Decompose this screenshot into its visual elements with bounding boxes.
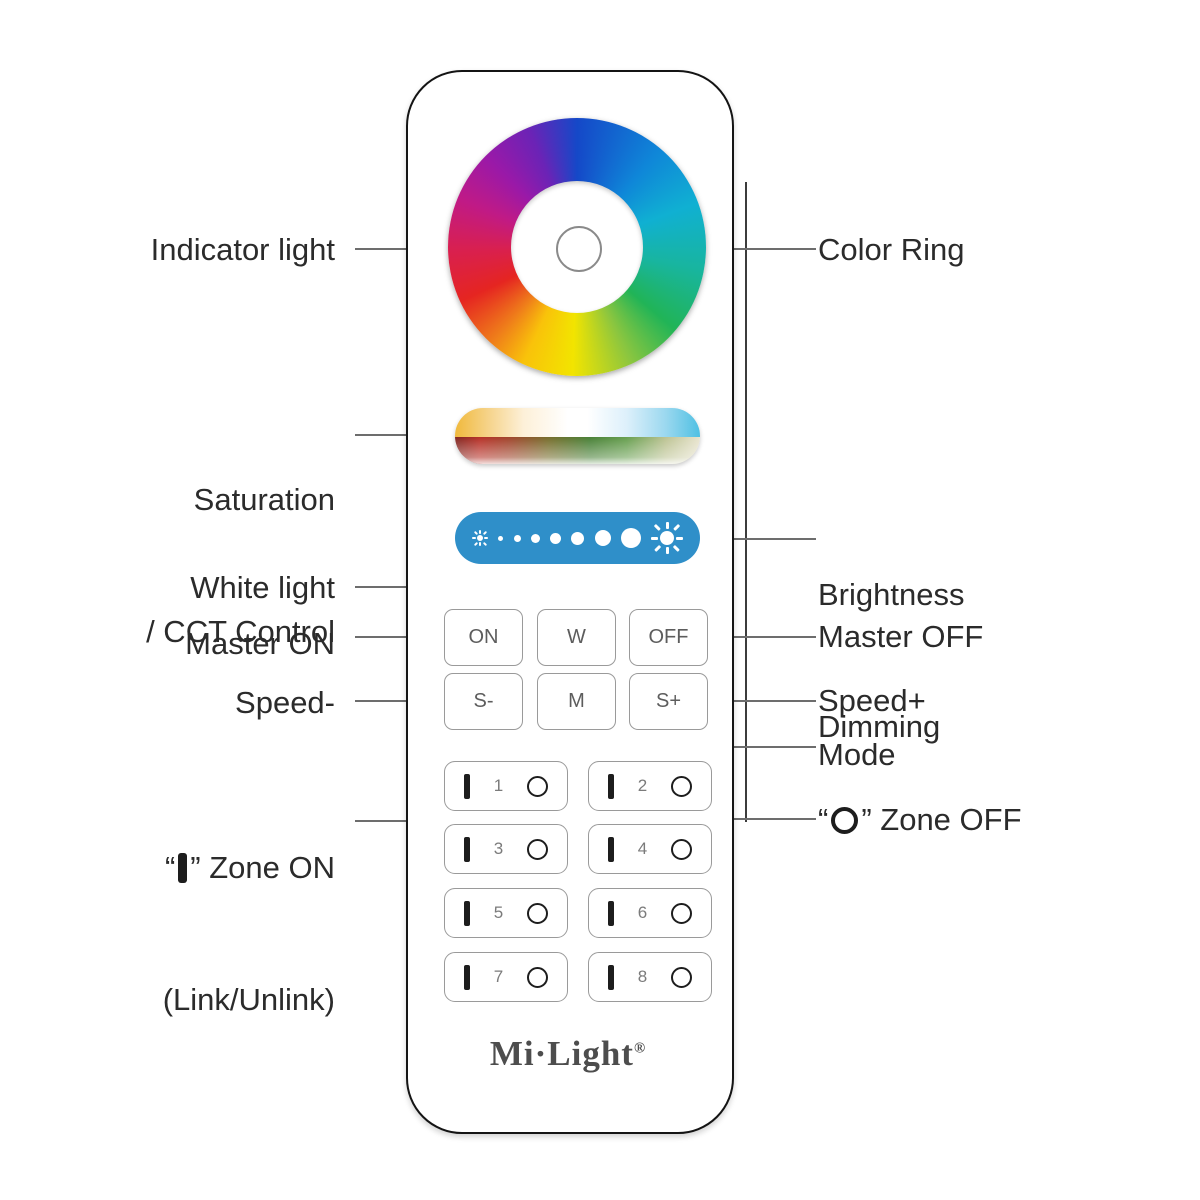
zone-on-bar-icon[interactable] (464, 901, 470, 926)
brightness-dot (514, 535, 521, 542)
callout-zone-off-label: “” Zone OFF (818, 798, 1158, 842)
callout-zone-on-line2: (Link/Unlink) (60, 978, 335, 1022)
zone-number: 6 (638, 903, 647, 923)
callout-master-on-label: Master ON (100, 622, 335, 666)
zone-on-bar-icon[interactable] (608, 901, 614, 926)
m-button[interactable]: M (537, 673, 616, 730)
zone-1-button[interactable]: 1 (444, 761, 568, 811)
zone-on-bar-icon (178, 853, 187, 883)
zone-on-bar-icon[interactable] (464, 774, 470, 799)
callout-white-light-label: White light (100, 566, 335, 610)
indicator-light (556, 226, 602, 272)
zone-on-bar-icon[interactable] (464, 965, 470, 990)
zone-number: 1 (494, 776, 503, 796)
callout-mode-label: Mode (818, 733, 1158, 777)
zone-off-circle-icon[interactable] (671, 967, 692, 988)
zone-number: 8 (638, 967, 647, 987)
callout-saturation-line1: Saturation (40, 478, 335, 522)
zone-on-bar-icon[interactable] (608, 774, 614, 799)
zone-on-bar-icon[interactable] (608, 837, 614, 862)
zone-5-button[interactable]: 5 (444, 888, 568, 938)
zone-off-circle-icon[interactable] (671, 903, 692, 924)
brand-name: Mi·Light (490, 1034, 634, 1073)
callout-brightness-label: Brightness Dimming (818, 485, 1158, 837)
zone-number: 3 (494, 839, 503, 859)
registered-mark: ® (634, 1040, 646, 1056)
off-button[interactable]: OFF (629, 609, 708, 666)
right-leader-rail (745, 182, 747, 822)
zone-on-bar-icon[interactable] (608, 965, 614, 990)
zone-off-circle-icon[interactable] (527, 967, 548, 988)
w-button[interactable]: W (537, 609, 616, 666)
saturation-cct-top-gradient (455, 408, 700, 437)
callout-speed-plus-label: Speed+ (818, 679, 1158, 723)
brightness-dimming-bar[interactable] (455, 512, 700, 564)
brightness-dot (595, 530, 611, 546)
saturation-cct-control[interactable] (455, 408, 700, 464)
color-ring[interactable] (448, 118, 706, 376)
callout-indicator-light-label: Indicator light (60, 228, 335, 272)
callout-zone-on-line1: “” Zone ON (60, 846, 335, 890)
s-minus-button[interactable]: S- (444, 673, 523, 730)
callout-master-off-label: Master OFF (818, 615, 1158, 659)
callout-speed-minus-label: Speed- (100, 681, 335, 725)
brightness-dot (571, 532, 584, 545)
brightness-dot (550, 533, 561, 544)
zone-off-circle-icon[interactable] (671, 776, 692, 797)
zone-3-button[interactable]: 3 (444, 824, 568, 874)
zone-off-circle-icon[interactable] (671, 839, 692, 860)
quote-open: “ (165, 850, 175, 885)
quote-close: ” (190, 850, 200, 885)
zone-off-circle-icon[interactable] (527, 903, 548, 924)
callout-zone-on-label: “” Zone ON (Link/Unlink) (60, 758, 335, 1110)
zone-off-circle-icon[interactable] (527, 839, 548, 860)
zone-off-circle-icon (831, 807, 858, 834)
zone-on-bar-icon[interactable] (464, 837, 470, 862)
zone-off-circle-icon[interactable] (527, 776, 548, 797)
callout-zone-off-suffix: Zone OFF (872, 802, 1022, 837)
zone-number: 7 (494, 967, 503, 987)
quote-close: ” (861, 802, 871, 837)
sun-small-icon (472, 530, 488, 546)
zone-number: 2 (638, 776, 647, 796)
zone-4-button[interactable]: 4 (588, 824, 712, 874)
callout-zone-on-suffix: Zone ON (201, 850, 335, 885)
saturation-cct-bottom-gradient (455, 437, 700, 464)
callout-brightness-line1: Brightness (818, 573, 1158, 617)
quote-open: “ (818, 802, 828, 837)
zone-8-button[interactable]: 8 (588, 952, 712, 1002)
zone-7-button[interactable]: 7 (444, 952, 568, 1002)
diagram-canvas: Indicator light Saturation / CCT Control… (0, 0, 1200, 1200)
zone-6-button[interactable]: 6 (588, 888, 712, 938)
brightness-dot (531, 534, 540, 543)
brand-logo: Mi·Light® (406, 1034, 730, 1074)
zone-number: 4 (638, 839, 647, 859)
zone-2-button[interactable]: 2 (588, 761, 712, 811)
zone-number: 5 (494, 903, 503, 923)
on-button[interactable]: ON (444, 609, 523, 666)
brightness-dot (498, 536, 503, 541)
callout-color-ring-label: Color Ring (818, 228, 1138, 272)
sun-large-icon (651, 522, 683, 554)
brightness-dot (621, 528, 641, 548)
s-plus-button[interactable]: S+ (629, 673, 708, 730)
